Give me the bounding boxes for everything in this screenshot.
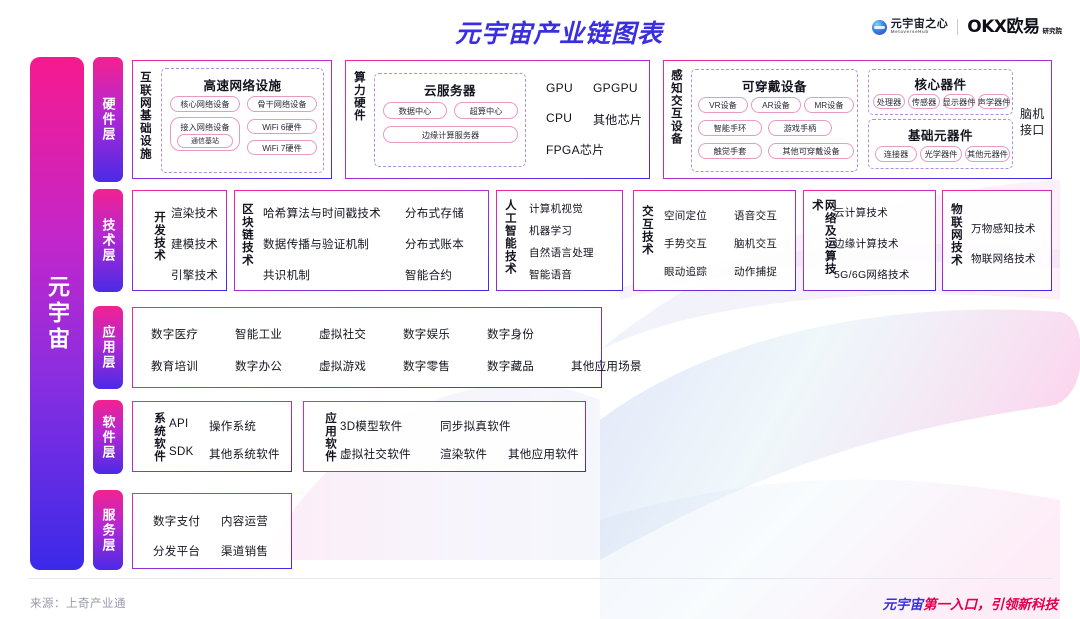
chip-fpga: FPGA芯片 bbox=[546, 141, 604, 158]
iot-technology-label: 物联网技术 bbox=[949, 203, 962, 281]
basic-component-title: 基础元器件 bbox=[869, 125, 1012, 144]
pill-wifi6-hardware[interactable]: WiFi 6硬件 bbox=[247, 119, 317, 134]
network-edge-computing: 边缘计算技术 bbox=[834, 236, 899, 251]
interaction-gesture: 手势交互 bbox=[664, 236, 707, 251]
pill-optical-device[interactable]: 光学器件 bbox=[920, 146, 962, 162]
sw-virtual-social: 虚拟社交软件 bbox=[340, 446, 411, 462]
metaversehub-name-en: MetaverseHub bbox=[891, 30, 949, 35]
app-digital-identity: 数字身份 bbox=[487, 326, 534, 342]
blockchain-consensus: 共识机制 bbox=[263, 267, 310, 283]
wearable-device-group: 可穿戴设备 VR设备 AR设备 MR设备 智能手环 游戏手柄 触觉手套 其他可穿… bbox=[691, 69, 858, 172]
section-internet-infrastructure: 互联网基础设施 高速网络设施 核心网络设备 骨干网络设备 接入网络设备 通信基站… bbox=[132, 60, 332, 179]
section-perception-interaction-device: 感知交互设备 可穿戴设备 VR设备 AR设备 MR设备 智能手环 游戏手柄 触觉… bbox=[663, 60, 1052, 179]
pill-wifi7-hardware[interactable]: WiFi 7硬件 bbox=[247, 140, 317, 155]
section-application: 数字医疗 智能工业 虚拟社交 数字娱乐 数字身份 教育培训 数字办公 虚拟游戏 … bbox=[132, 307, 602, 388]
highspeed-network-group: 高速网络设施 核心网络设备 骨干网络设备 接入网络设备 通信基站 WiFi 6硬… bbox=[161, 68, 324, 173]
pill-access-network-device-label: 接入网络设备 bbox=[180, 121, 229, 133]
brand-bar: 元宇宙之心 MetaverseHub OKX欧易 研究院 bbox=[872, 16, 1062, 38]
app-smart-industry: 智能工业 bbox=[235, 326, 282, 342]
ai-machine-learning: 机器学习 bbox=[529, 223, 572, 238]
ai-computer-vision: 计算机视觉 bbox=[529, 201, 583, 216]
pill-sensor[interactable]: 传感器 bbox=[908, 94, 940, 109]
section-iot-technology: 物联网技术 万物感知技术 物联网络技术 bbox=[942, 190, 1052, 291]
app-virtual-social: 虚拟社交 bbox=[319, 326, 366, 342]
tech-rendering: 渲染技术 bbox=[171, 205, 218, 221]
brain-computer-interface: 脑机接口 bbox=[1020, 106, 1046, 138]
pill-backbone-network-device[interactable]: 骨干网络设备 bbox=[247, 96, 317, 112]
pill-mr-device[interactable]: MR设备 bbox=[804, 97, 854, 113]
interaction-spatial-positioning: 空间定位 bbox=[664, 208, 707, 223]
basic-component-group: 基础元器件 连接器 光学器件 其他元器件 bbox=[868, 119, 1013, 169]
pill-other-wearable-device[interactable]: 其他可穿戴设备 bbox=[768, 143, 854, 159]
interaction-voice: 语音交互 bbox=[734, 208, 777, 223]
network-cloud-computing: 云计算技术 bbox=[834, 205, 888, 220]
pill-data-center[interactable]: 数据中心 bbox=[383, 102, 447, 119]
sw-sync-simulation: 同步拟真软件 bbox=[440, 418, 511, 434]
footer-divider bbox=[28, 578, 1052, 579]
layer-tab-hardware-label: 硬件层 bbox=[99, 97, 118, 142]
pill-haptic-glove[interactable]: 触觉手套 bbox=[698, 143, 762, 159]
okx-research-label: 研究院 bbox=[1043, 25, 1063, 36]
interaction-motion-capture: 动作捕捉 bbox=[734, 264, 777, 279]
interaction-technology-label: 交互技术 bbox=[640, 205, 653, 279]
sw-operating-system: 操作系统 bbox=[209, 418, 256, 434]
app-virtual-gaming: 虚拟游戏 bbox=[319, 358, 366, 374]
compute-hardware-label: 算力硬件 bbox=[352, 71, 365, 171]
layer-tab-service-label: 服务层 bbox=[99, 508, 118, 553]
pill-core-network-device[interactable]: 核心网络设备 bbox=[170, 96, 240, 112]
cloud-server-title: 云服务器 bbox=[375, 80, 525, 99]
internet-infrastructure-label: 互联网基础设施 bbox=[138, 71, 151, 171]
section-blockchain-technology: 区块链技术 哈希算法与时间戳技术 数据传播与验证机制 共识机制 分布式存储 分布… bbox=[234, 190, 489, 291]
app-digital-office: 数字办公 bbox=[235, 358, 282, 374]
app-digital-entertainment: 数字娱乐 bbox=[403, 326, 450, 342]
pill-smart-band[interactable]: 智能手环 bbox=[698, 120, 762, 136]
pill-ar-device[interactable]: AR设备 bbox=[751, 97, 801, 113]
pill-connector[interactable]: 连接器 bbox=[875, 146, 917, 162]
layer-tab-software-label: 软件层 bbox=[99, 415, 118, 460]
section-service: 数字支付 内容运营 分发平台 渠道销售 bbox=[132, 493, 292, 569]
system-software-label: 系统软件 bbox=[139, 412, 165, 463]
blockchain-data-propagation: 数据传播与验证机制 bbox=[263, 236, 369, 252]
infographic-page: 元宇宙产业链图表 元宇宙之心 MetaverseHub OKX欧易 研究院 元宇… bbox=[0, 0, 1080, 619]
svc-channel-sales: 渠道销售 bbox=[221, 543, 268, 559]
blockchain-distributed-ledger: 分布式账本 bbox=[405, 236, 464, 252]
wearable-device-title: 可穿戴设备 bbox=[692, 76, 857, 95]
blockchain-distributed-storage: 分布式存储 bbox=[405, 205, 464, 221]
svc-content-operation: 内容运营 bbox=[221, 513, 268, 529]
application-software-label: 应用软件 bbox=[310, 412, 336, 463]
pill-processor[interactable]: 处理器 bbox=[873, 94, 905, 109]
blockchain-smart-contract: 智能合约 bbox=[405, 267, 452, 283]
pill-acoustic-device[interactable]: 声学器件 bbox=[978, 94, 1010, 109]
pill-game-controller[interactable]: 游戏手柄 bbox=[768, 120, 832, 136]
pill-display-device[interactable]: 显示器件 bbox=[943, 94, 975, 109]
network-5g6g: 5G/6G网络技术 bbox=[834, 267, 910, 282]
slogan-brand: 元宇宙 bbox=[883, 597, 924, 612]
app-digital-retail: 数字零售 bbox=[403, 358, 450, 374]
chip-gpgpu: GPGPU bbox=[593, 81, 638, 95]
svc-distribution-platform: 分发平台 bbox=[153, 543, 200, 559]
blockchain-hash-timestamp: 哈希算法与时间戳技术 bbox=[263, 205, 381, 221]
layer-tab-technology[interactable]: 技术层 bbox=[93, 189, 123, 292]
header: 元宇宙产业链图表 元宇宙之心 MetaverseHub OKX欧易 研究院 bbox=[0, 0, 1080, 52]
interaction-eye-tracking: 眼动追踪 bbox=[664, 264, 707, 279]
chip-cpu: CPU bbox=[546, 111, 572, 125]
metaversehub-orb-icon bbox=[872, 20, 887, 35]
core-component-title: 核心器件 bbox=[869, 74, 1012, 93]
brand-divider bbox=[957, 19, 958, 35]
okx-logo: OKX欧易 研究院 bbox=[967, 19, 1062, 36]
tech-modeling: 建模技术 bbox=[171, 236, 218, 252]
metaverse-spine: 元宇宙 bbox=[30, 57, 84, 570]
sw-other-application: 其他应用软件 bbox=[508, 446, 579, 462]
layer-tab-service[interactable]: 服务层 bbox=[93, 490, 123, 570]
blockchain-technology-label: 区块链技术 bbox=[240, 203, 253, 281]
section-development-technology: 开发技术 渲染技术 建模技术 引擎技术 bbox=[132, 190, 227, 291]
sw-sdk: SDK bbox=[169, 446, 194, 458]
ai-technology-label: 人工智能技术 bbox=[503, 199, 516, 283]
app-education-training: 教育培训 bbox=[151, 358, 198, 374]
iot-universal-sensing: 万物感知技术 bbox=[971, 221, 1036, 236]
network-computing-label: 网络及运算技术 bbox=[810, 199, 836, 283]
ai-smart-voice: 智能语音 bbox=[529, 267, 572, 282]
section-compute-hardware: 算力硬件 云服务器 数据中心 超算中心 边缘计算服务器 GPU GPGPU CP… bbox=[345, 60, 650, 179]
section-system-software: 系统软件 API 操作系统 SDK 其他系统软件 bbox=[132, 401, 292, 472]
sw-rendering: 渲染软件 bbox=[440, 446, 487, 462]
pill-communication-base-station[interactable]: 通信基站 bbox=[177, 134, 233, 148]
metaverse-spine-label: 元宇宙 bbox=[41, 275, 73, 353]
okx-name: OKX欧易 bbox=[967, 19, 1039, 36]
pill-other-component[interactable]: 其他元器件 bbox=[965, 146, 1010, 162]
layer-tab-hardware[interactable]: 硬件层 bbox=[93, 57, 123, 182]
svc-digital-payment: 数字支付 bbox=[153, 513, 200, 529]
development-technology-label: 开发技术 bbox=[139, 211, 165, 262]
section-network-computing-technology: 网络及运算技术 云计算技术 边缘计算技术 5G/6G网络技术 bbox=[803, 190, 936, 291]
slogan-tagline: 第一入口，引领新科技 bbox=[923, 597, 1058, 612]
iot-network-technology: 物联网络技术 bbox=[971, 251, 1036, 266]
section-application-software: 应用软件 3D模型软件 同步拟真软件 虚拟社交软件 渲染软件 其他应用软件 bbox=[303, 401, 586, 472]
pill-edge-computing-server[interactable]: 边缘计算服务器 bbox=[383, 126, 518, 143]
cloud-server-group: 云服务器 数据中心 超算中心 边缘计算服务器 bbox=[374, 73, 526, 167]
chip-gpu: GPU bbox=[546, 81, 573, 95]
page-title: 元宇宙产业链图表 bbox=[455, 14, 663, 50]
layer-tab-software[interactable]: 软件层 bbox=[93, 400, 123, 474]
ai-nlp: 自然语言处理 bbox=[529, 245, 594, 260]
metaversehub-logo: 元宇宙之心 MetaverseHub bbox=[872, 19, 949, 35]
highspeed-network-title: 高速网络设施 bbox=[162, 75, 323, 94]
sw-3d-model: 3D模型软件 bbox=[340, 418, 403, 434]
tech-engine: 引擎技术 bbox=[171, 267, 218, 283]
app-digital-healthcare: 数字医疗 bbox=[151, 326, 198, 342]
chip-other: 其他芯片 bbox=[593, 111, 642, 128]
section-ai-technology: 人工智能技术 计算机视觉 机器学习 自然语言处理 智能语音 bbox=[496, 190, 623, 291]
pill-vr-device[interactable]: VR设备 bbox=[698, 97, 748, 113]
pill-supercomputing-center[interactable]: 超算中心 bbox=[454, 102, 518, 119]
sw-api: API bbox=[169, 418, 188, 430]
core-component-group: 核心器件 处理器 传感器 显示器件 声学器件 bbox=[868, 69, 1013, 115]
footer-slogan: 元宇宙第一入口，引领新科技 bbox=[883, 593, 1059, 613]
layer-tab-application-label: 应用层 bbox=[99, 325, 118, 370]
layer-tab-technology-label: 技术层 bbox=[99, 218, 118, 263]
section-interaction-technology: 交互技术 空间定位 手势交互 眼动追踪 语音交互 脑机交互 动作捕捉 bbox=[633, 190, 796, 291]
app-other-scenarios: 其他应用场景 bbox=[571, 358, 642, 374]
app-digital-collectible: 数字藏品 bbox=[487, 358, 534, 374]
source-label: 来源：上奇产业通 bbox=[30, 595, 126, 611]
sw-other-system: 其他系统软件 bbox=[209, 446, 280, 462]
interaction-bci: 脑机交互 bbox=[734, 236, 777, 251]
perception-device-label: 感知交互设备 bbox=[669, 69, 682, 173]
layer-tab-application[interactable]: 应用层 bbox=[93, 306, 123, 389]
